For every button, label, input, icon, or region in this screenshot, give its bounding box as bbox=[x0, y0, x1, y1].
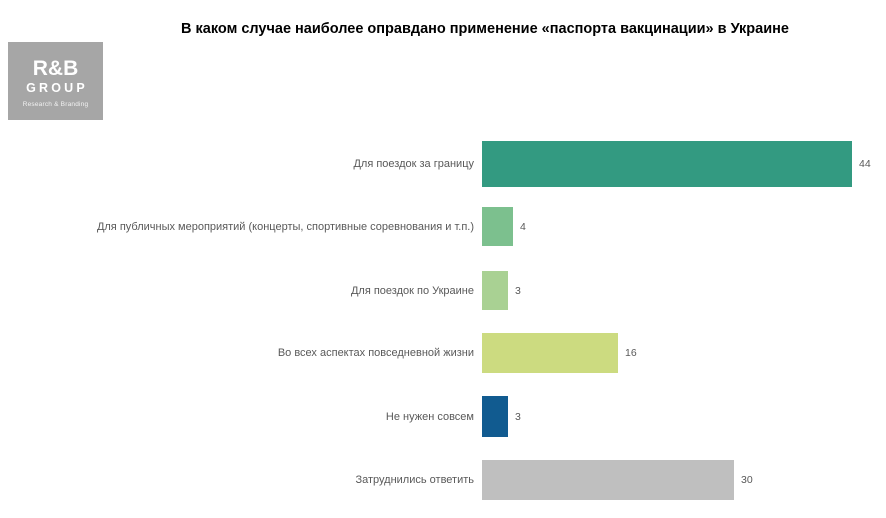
bar-segment[interactable] bbox=[482, 460, 734, 500]
bar-chart-plot-area: Для поездок за границу44Для публичных ме… bbox=[0, 132, 886, 512]
chart-title: В каком случае наиболее оправдано примен… bbox=[105, 20, 865, 38]
bar-segment[interactable] bbox=[482, 207, 513, 246]
company-logo: R&B GROUP Research & Branding bbox=[8, 42, 103, 120]
bar-segment[interactable] bbox=[482, 141, 852, 187]
bar-category-label: Для поездок за границу bbox=[0, 157, 482, 171]
bar-track: 4 bbox=[482, 207, 886, 246]
bar-row: Во всех аспектах повседневной жизни16 bbox=[0, 333, 886, 373]
bar-category-label: Во всех аспектах повседневной жизни bbox=[0, 346, 482, 360]
bar-row: Не нужен совсем3 bbox=[0, 396, 886, 437]
bar-row: Для поездок за границу44 bbox=[0, 141, 886, 187]
bar-track: 3 bbox=[482, 396, 886, 437]
logo-tagline-text: Research & Branding bbox=[23, 100, 89, 109]
bar-segment[interactable] bbox=[482, 396, 508, 437]
bar-row: Для публичных мероприятий (концерты, спо… bbox=[0, 207, 886, 246]
bar-category-label: Для поездок по Украине bbox=[0, 284, 482, 298]
bar-value-label: 44 bbox=[852, 158, 871, 170]
bar-segment[interactable] bbox=[482, 333, 618, 373]
bar-value-label: 30 bbox=[734, 474, 753, 486]
bar-category-label: Затруднились ответить bbox=[0, 473, 482, 487]
bar-track: 16 bbox=[482, 333, 886, 373]
bar-category-label: Для публичных мероприятий (концерты, спо… bbox=[0, 220, 482, 234]
bar-value-label: 4 bbox=[513, 221, 526, 233]
bar-value-label: 3 bbox=[508, 285, 521, 297]
bar-category-label: Не нужен совсем bbox=[0, 410, 482, 424]
bar-track: 44 bbox=[482, 141, 886, 187]
bar-row: Для поездок по Украине3 bbox=[0, 271, 886, 310]
logo-word-text: GROUP bbox=[23, 81, 88, 96]
bar-track: 3 bbox=[482, 271, 886, 310]
bar-value-label: 16 bbox=[618, 347, 637, 359]
bar-segment[interactable] bbox=[482, 271, 508, 310]
logo-mark-text: R&B bbox=[33, 58, 79, 79]
bar-track: 30 bbox=[482, 460, 886, 500]
bar-value-label: 3 bbox=[508, 411, 521, 423]
bar-row: Затруднились ответить30 bbox=[0, 460, 886, 500]
